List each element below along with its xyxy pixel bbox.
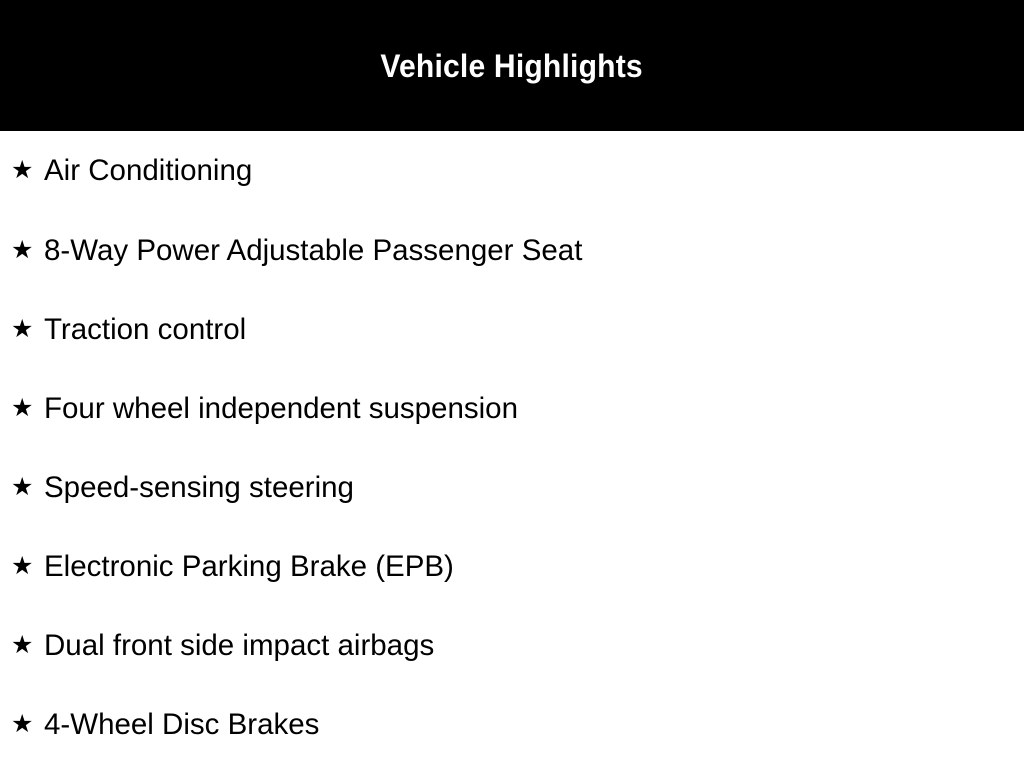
star-bullet-icon: ★ bbox=[11, 158, 35, 183]
list-item: ★ Air Conditioning bbox=[0, 131, 1024, 211]
header-banner: Vehicle Highlights bbox=[0, 0, 1024, 131]
vehicle-highlights-page: Vehicle Highlights ★ Air Conditioning ★ … bbox=[0, 0, 1024, 768]
vehicle-highlights-list: ★ Air Conditioning ★ 8-Way Power Adjusta… bbox=[0, 131, 1024, 764]
star-bullet-icon: ★ bbox=[11, 554, 35, 579]
star-bullet-icon: ★ bbox=[11, 633, 35, 658]
star-bullet-icon: ★ bbox=[11, 475, 35, 500]
highlight-label: Speed-sensing steering bbox=[44, 471, 354, 505]
list-item: ★ Traction control bbox=[0, 290, 1024, 369]
highlight-label: 8-Way Power Adjustable Passenger Seat bbox=[44, 234, 582, 268]
list-item: ★ Dual front side impact airbags bbox=[0, 606, 1024, 685]
highlight-label: Four wheel independent suspension bbox=[44, 392, 518, 426]
list-item: ★ 4-Wheel Disc Brakes bbox=[0, 685, 1024, 764]
star-bullet-icon: ★ bbox=[11, 238, 35, 263]
highlight-label: Electronic Parking Brake (EPB) bbox=[44, 550, 454, 584]
star-bullet-icon: ★ bbox=[11, 712, 35, 737]
page-title: Vehicle Highlights bbox=[381, 50, 643, 82]
star-bullet-icon: ★ bbox=[11, 317, 35, 342]
highlight-label: Dual front side impact airbags bbox=[44, 629, 434, 663]
list-item: ★ Four wheel independent suspension bbox=[0, 369, 1024, 448]
highlight-label: 4-Wheel Disc Brakes bbox=[44, 708, 319, 742]
list-item: ★ Speed-sensing steering bbox=[0, 448, 1024, 527]
list-item: ★ Electronic Parking Brake (EPB) bbox=[0, 527, 1024, 606]
highlight-label: Air Conditioning bbox=[44, 154, 252, 188]
list-item: ★ 8-Way Power Adjustable Passenger Seat bbox=[0, 211, 1024, 290]
star-bullet-icon: ★ bbox=[11, 396, 35, 421]
highlight-label: Traction control bbox=[44, 313, 246, 347]
